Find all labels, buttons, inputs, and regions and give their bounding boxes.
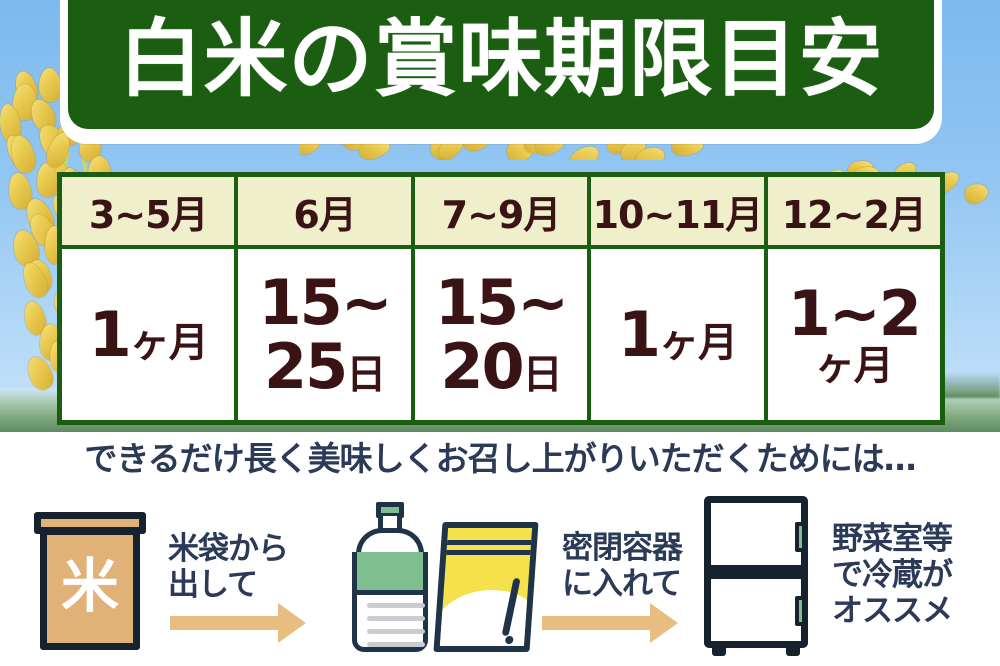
- step-arrow-1-icon: [170, 616, 280, 630]
- step-label-line1: 密閉容器: [562, 531, 682, 567]
- step-label-line2: で冷蔵が: [832, 558, 952, 594]
- cell-value-big: 25: [264, 335, 346, 398]
- table-header-cell: 10~11月: [591, 177, 767, 249]
- table-value-row: 1 ヶ月 15~ 25 日: [62, 249, 940, 420]
- bottle-rib: [367, 603, 425, 608]
- cell-value-big: 15~: [435, 271, 567, 334]
- cell-value: 1 ヶ月: [618, 304, 737, 366]
- rice-bag-kome-glyph: 米: [34, 546, 146, 626]
- fridge-upper-door: [704, 496, 808, 572]
- zip-bag-window: [433, 590, 538, 652]
- storage-advice-caption: できるだけ長く美味しくお召し上がりいただくためには…: [0, 434, 1000, 478]
- title-box: 白米の賞味期限目安: [68, 0, 934, 129]
- table-cell: 1 ヶ月: [591, 249, 767, 420]
- table-header-cell: 3~5月: [62, 177, 238, 249]
- bottle-rib: [367, 629, 425, 634]
- bottle-label: [352, 552, 428, 592]
- cell-value: 15~ 25 日: [258, 271, 390, 397]
- table-header-cell: 6月: [238, 177, 414, 249]
- cell-value-big: 1: [89, 304, 130, 366]
- table-header-cell: 12~2月: [768, 177, 940, 249]
- cell-value-big: 1: [618, 304, 659, 366]
- step-airtight-container: 密閉容器 に入れて: [350, 482, 682, 666]
- cell-value-small: ヶ月: [130, 323, 208, 363]
- table-header-cell: 7~9月: [415, 177, 591, 249]
- cell-value: 15~ 20 日: [435, 271, 567, 397]
- cell-value-small: ヶ月: [659, 323, 737, 363]
- cell-value: 1~2 ヶ月: [788, 282, 920, 386]
- step-remove-from-bag: 米 米袋から 出して: [34, 482, 288, 666]
- rice-bag-icon: 米: [34, 512, 146, 652]
- rice-bag-top: [34, 512, 146, 534]
- fridge-upper-handle: [795, 522, 806, 552]
- page-title: 白米の賞味期限目安: [118, 17, 883, 101]
- pet-bottle-icon: [350, 502, 430, 652]
- shelf-life-table: 3~5月 6月 7~9月 10~11月 12~2月 1 ヶ月 15~: [57, 172, 945, 425]
- cell-value: 1 ヶ月: [89, 304, 208, 366]
- table-header-row: 3~5月 6月 7~9月 10~11月 12~2月: [62, 177, 940, 249]
- bottle-body: [352, 590, 428, 652]
- fridge-leg: [786, 646, 800, 656]
- fridge-lower-handle: [795, 596, 806, 626]
- cell-value-big: 20: [440, 335, 522, 398]
- cell-value-small: 日: [523, 355, 562, 396]
- bottle-rib: [367, 616, 425, 621]
- step-label-line2: に入れて: [562, 567, 682, 603]
- step-label-line1: 野菜室等: [832, 522, 952, 558]
- zip-bag-seal-line: [447, 540, 531, 545]
- step-arrow-2-icon: [542, 616, 652, 630]
- title-banner: 白米の賞味期限目安: [60, 0, 942, 144]
- zip-bag-icon: [438, 522, 534, 652]
- cell-value-small: 日: [346, 355, 385, 396]
- fridge-leg: [712, 646, 726, 656]
- cell-value-small: ヶ月: [815, 346, 893, 387]
- table-cell: 1~2 ヶ月: [768, 249, 940, 420]
- poster-root: 白米の賞味期限目安 3~5月 6月 7~9月 10~11月 12~2月 1 ヶ月: [0, 0, 1000, 666]
- step-refrigerate: 野菜室等 で冷蔵が オススメ: [700, 482, 952, 666]
- step-label-line1: 米袋から: [168, 532, 288, 568]
- refrigerator-icon: [700, 496, 812, 656]
- zip-bag-seal-line: [446, 550, 530, 555]
- cell-value-big: 15~: [258, 271, 390, 334]
- cell-value-big: 1~2: [788, 282, 920, 345]
- table-cell: 1 ヶ月: [62, 249, 238, 420]
- table-cell: 15~ 20 日: [415, 249, 591, 420]
- fridge-lower-door: [704, 572, 808, 648]
- bottle-rib: [367, 642, 425, 647]
- table-cell: 15~ 25 日: [238, 249, 414, 420]
- step-label-line2: 出して: [168, 568, 288, 604]
- step-label-line3: オススメ: [832, 594, 952, 630]
- storage-steps: 米 米袋から 出して: [0, 482, 1000, 666]
- zip-bag-body: [433, 522, 538, 652]
